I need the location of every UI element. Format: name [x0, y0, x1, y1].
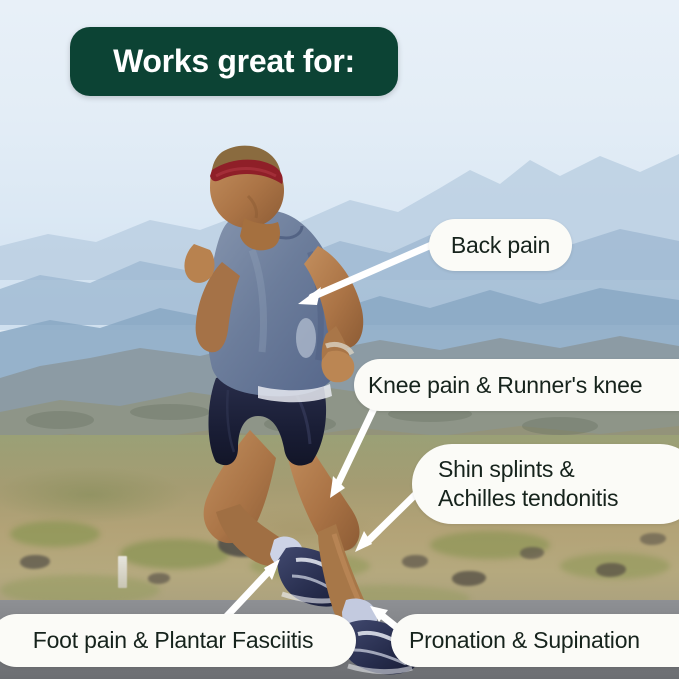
- callout-knee-pain-label: Knee pain & Runner's knee: [368, 372, 642, 399]
- title-badge: Works great for:: [70, 27, 398, 96]
- callout-back-pain-label: Back pain: [451, 232, 550, 259]
- callout-pronation-label: Pronation & Supination: [409, 627, 640, 654]
- callout-shin-splints-label-line2: Achilles tendonitis: [438, 484, 618, 513]
- runner-figure: [0, 0, 679, 679]
- callout-pronation: Pronation & Supination: [391, 614, 679, 667]
- callout-foot-pain: Foot pain & Plantar Fasciitis: [0, 614, 356, 667]
- callout-foot-pain-label: Foot pain & Plantar Fasciitis: [33, 627, 314, 654]
- callout-shin-splints: Shin splints & Achilles tendonitis: [412, 444, 679, 524]
- title-badge-label: Works great for:: [113, 43, 355, 80]
- callout-knee-pain: Knee pain & Runner's knee: [354, 359, 679, 411]
- callout-back-pain: Back pain: [429, 219, 572, 271]
- promo-image: Works great for: Back pain Knee pain & R…: [0, 0, 679, 679]
- callout-shin-splints-label-line1: Shin splints &: [438, 455, 575, 484]
